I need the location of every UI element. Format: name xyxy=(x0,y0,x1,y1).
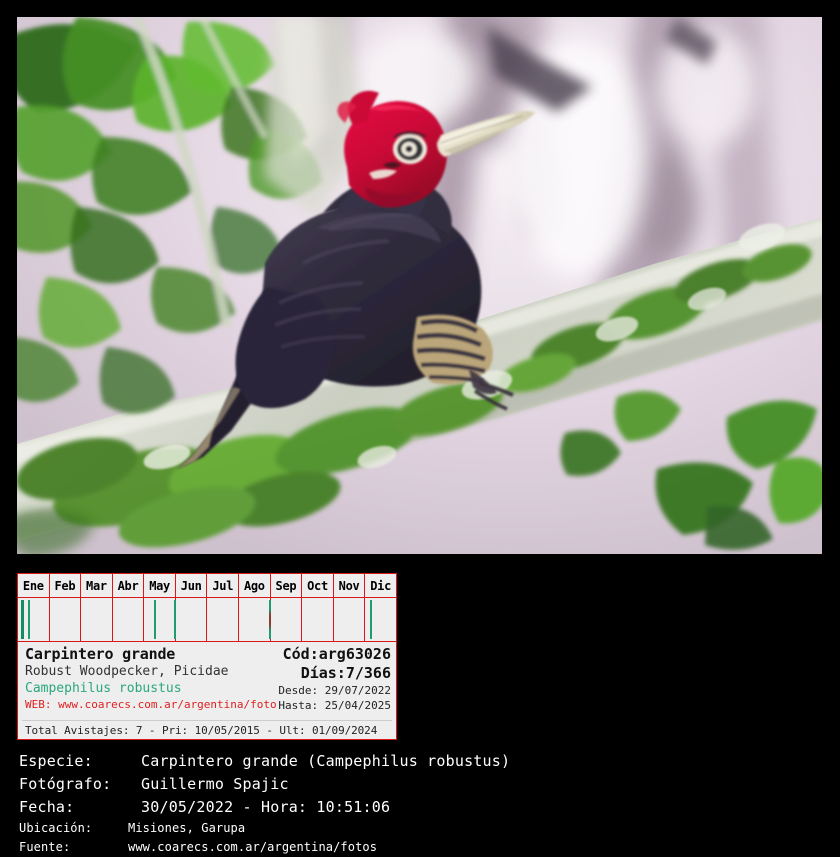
month-column-ago xyxy=(239,598,271,641)
panel-web-link[interactable]: WEB: www.coarecs.com.ar/argentina/foto xyxy=(25,697,270,713)
sighting-tick xyxy=(174,600,176,639)
species-english-name: Robust Woodpecker, Picidae xyxy=(25,663,270,680)
species-common-name: Carpintero grande xyxy=(25,645,270,663)
month-cell-mar: Mar xyxy=(81,574,113,597)
month-column-mar xyxy=(81,598,113,641)
month-cell-sep: Sep xyxy=(271,574,303,597)
month-cell-dic: Dic xyxy=(365,574,396,597)
month-column-jun xyxy=(176,598,208,641)
species-code: Cód:arg63026 xyxy=(256,645,391,664)
species-scientific-name: Campephilus robustus xyxy=(25,680,270,697)
month-cell-abr: Abr xyxy=(113,574,145,597)
month-cell-oct: Oct xyxy=(302,574,334,597)
month-column-feb xyxy=(50,598,82,641)
species-days: Días:7/366 xyxy=(256,664,391,683)
caption-row: Fotógrafo:Guillermo Spajic xyxy=(19,773,819,796)
caption-value: Guillermo Spajic xyxy=(141,773,289,796)
panel-right-column: Cód:arg63026 Días:7/366 Desde: 29/07/202… xyxy=(256,645,391,713)
panel-text-block: Carpintero grande Robust Woodpecker, Pic… xyxy=(18,643,396,740)
sighting-tick xyxy=(154,600,156,639)
month-body-row xyxy=(18,598,396,642)
total-sightings-line: Total Avistajes: 7 - Pri: 10/05/2015 - U… xyxy=(25,724,377,737)
month-cell-ago: Ago xyxy=(239,574,271,597)
month-cell-ene: Ene xyxy=(18,574,50,597)
month-cell-may: May xyxy=(144,574,176,597)
caption-value: 30/05/2022 - Hora: 10:51:06 xyxy=(141,796,390,819)
sighting-tick xyxy=(21,600,24,639)
species-info-panel: EneFebMarAbrMayJunJulAgoSepOctNovDic Car… xyxy=(17,573,397,740)
caption-label: Ubicación: xyxy=(19,819,128,838)
caption-label: Fecha: xyxy=(19,796,141,819)
month-column-may xyxy=(144,598,176,641)
month-column-abr xyxy=(113,598,145,641)
month-column-nov xyxy=(334,598,366,641)
caption-row: Fecha:30/05/2022 - Hora: 10:51:06 xyxy=(19,796,819,819)
bird-photo xyxy=(17,17,822,554)
panel-left-column: Carpintero grande Robust Woodpecker, Pic… xyxy=(25,645,270,713)
month-cell-jun: Jun xyxy=(176,574,208,597)
month-header-row: EneFebMarAbrMayJunJulAgoSepOctNovDic xyxy=(18,574,396,598)
caption-row: Especie:Carpintero grande (Campephilus r… xyxy=(19,750,819,773)
month-dividers xyxy=(18,598,396,641)
caption-value: Misiones, Garupa xyxy=(128,819,245,838)
caption-label: Especie: xyxy=(19,750,141,773)
panel-divider xyxy=(22,720,392,721)
bird-photo-image xyxy=(17,17,822,554)
caption-row: Fuente:www.coarecs.com.ar/argentina/foto… xyxy=(19,838,819,857)
range-desde: Desde: 29/07/2022 xyxy=(256,683,391,698)
caption-label: Fotógrafo: xyxy=(19,773,141,796)
month-column-jul xyxy=(207,598,239,641)
month-cell-nov: Nov xyxy=(334,574,366,597)
sighting-tick xyxy=(269,600,271,639)
month-cell-jul: Jul xyxy=(207,574,239,597)
caption-label: Fuente: xyxy=(19,838,128,857)
month-cell-feb: Feb xyxy=(50,574,82,597)
range-hasta: Hasta: 25/04/2025 xyxy=(256,698,391,713)
photo-caption: Especie:Carpintero grande (Campephilus r… xyxy=(19,750,819,857)
monthly-sightings-chart: EneFebMarAbrMayJunJulAgoSepOctNovDic xyxy=(18,574,396,642)
sighting-tick xyxy=(28,600,30,639)
caption-row: Ubicación:Misiones, Garupa xyxy=(19,819,819,838)
sighting-tick xyxy=(370,600,372,639)
caption-value: www.coarecs.com.ar/argentina/fotos xyxy=(128,838,377,857)
caption-value: Carpintero grande (Campephilus robustus) xyxy=(141,750,510,773)
month-column-oct xyxy=(302,598,334,641)
month-column-sep xyxy=(271,598,303,641)
